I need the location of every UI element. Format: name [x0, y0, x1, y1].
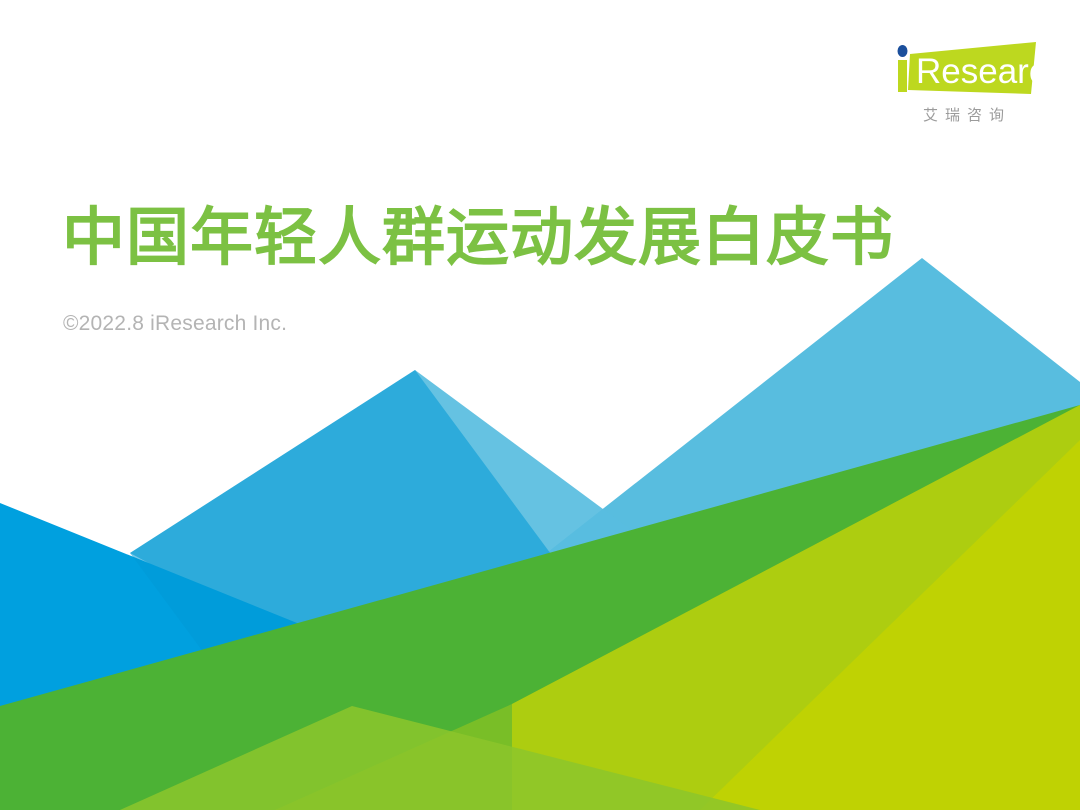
iresearch-logo: Research 艾瑞咨询 [888, 40, 1038, 135]
logo-dot-icon [898, 45, 908, 57]
page-title: 中国年轻人群运动发展白皮书 [62, 205, 894, 272]
logo-wordmark: Research [916, 52, 1038, 91]
logo-chinese-name: 艾瑞咨询 [888, 104, 1038, 125]
slide-cover: Research 艾瑞咨询 中国年轻人群运动发展白皮书 ©2022.8 iRes… [0, 0, 1080, 810]
iresearch-logo-icon: Research [888, 40, 1038, 102]
copyright-notice: ©2022.8 iResearch Inc. [63, 312, 287, 336]
logo-i-stem-icon [898, 60, 907, 92]
